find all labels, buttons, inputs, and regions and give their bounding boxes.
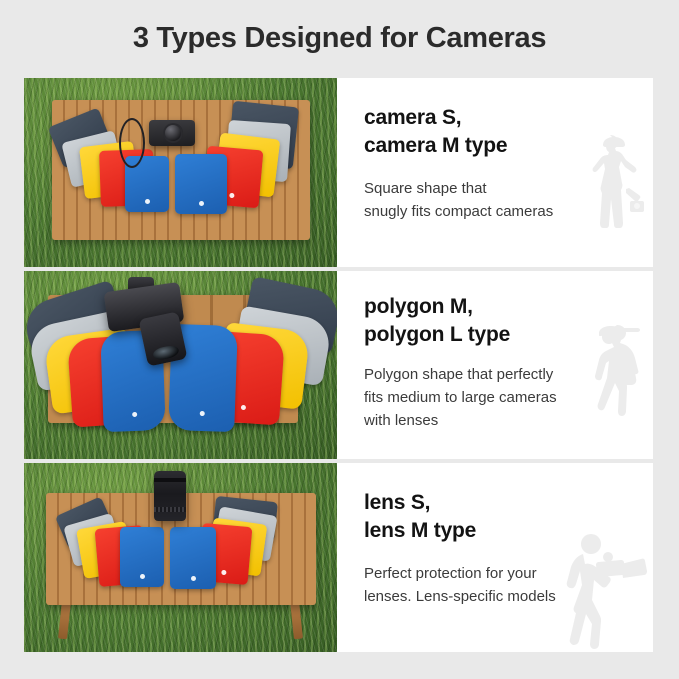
- heading-line-2: camera M type: [364, 134, 507, 157]
- camera-strap: [119, 118, 145, 168]
- product-photo-polygon-type: [24, 271, 337, 460]
- description-line-3: with lenses: [364, 412, 438, 429]
- type-row-polygon: polygon M, polygon L type Polygon shape …: [24, 271, 653, 460]
- type-description: Square shape that snugly fits compact ca…: [364, 177, 631, 224]
- camera-lens: [154, 471, 186, 521]
- description-line-1: Square shape that: [364, 180, 487, 197]
- type-heading: polygon M, polygon L type: [364, 293, 631, 349]
- heading-line-1: camera S,: [364, 106, 461, 129]
- pouch-blue: [120, 527, 164, 587]
- type-rows: camera S, camera M type Square shape tha…: [24, 78, 653, 652]
- text-panel-camera-type: camera S, camera M type Square shape tha…: [337, 78, 653, 267]
- type-description: Polygon shape that perfectly fits medium…: [364, 363, 631, 433]
- heading-line-1: lens S,: [364, 491, 430, 514]
- description-line-2: fits medium to large cameras: [364, 389, 557, 406]
- text-panel-lens-type: lens S, lens M type Perfect protection f…: [337, 463, 653, 652]
- type-heading: lens S, lens M type: [364, 489, 631, 545]
- compact-camera: [149, 120, 195, 146]
- description-line-1: Polygon shape that perfectly: [364, 366, 553, 383]
- type-heading: camera S, camera M type: [364, 104, 631, 160]
- product-photo-camera-type: [24, 78, 337, 267]
- type-description: Perfect protection for your lenses. Lens…: [364, 562, 631, 609]
- type-row-lens: lens S, lens M type Perfect protection f…: [24, 463, 653, 652]
- text-panel-polygon-type: polygon M, polygon L type Polygon shape …: [337, 271, 653, 460]
- type-row-camera: camera S, camera M type Square shape tha…: [24, 78, 653, 267]
- description-line-2: lenses. Lens-specific models: [364, 588, 556, 605]
- infographic-page: 3 Types Designed for Cameras: [0, 0, 679, 679]
- pouch-blue: [175, 154, 227, 214]
- heading-line-2: lens M type: [364, 519, 476, 542]
- description-line-2: snugly fits compact cameras: [364, 203, 553, 220]
- page-title: 3 Types Designed for Cameras: [0, 22, 679, 55]
- description-line-1: Perfect protection for your: [364, 565, 537, 582]
- heading-line-1: polygon M,: [364, 295, 473, 318]
- pouch-blue: [170, 527, 216, 589]
- heading-line-2: polygon L type: [364, 323, 510, 346]
- product-photo-lens-type: [24, 463, 337, 652]
